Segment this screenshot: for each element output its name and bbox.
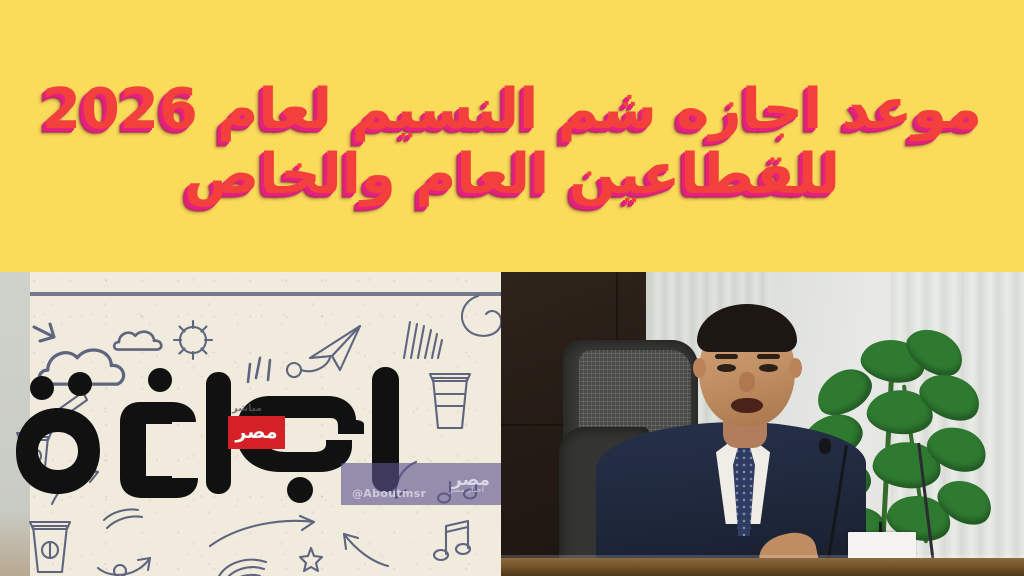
star-icon [300,548,322,571]
spiral-icon [462,296,501,336]
coffee-cup-bottom-icon [30,522,70,572]
ribbon-icon [55,392,87,420]
person-brow-right [757,354,780,359]
headline-line-1: موعد اجازه شم النسيم لعام 2026 [42,79,982,142]
news-thumbnail-poster: موعد اجازه شم النسيم لعام 2026 للقطاعين … [0,0,1024,576]
coffee-cup-icon [430,374,470,428]
cloud-small-icon [114,332,161,350]
arrow-curved-bottom-icon [98,558,150,576]
cloud-icon [39,350,123,384]
loop-icon [287,358,330,377]
person-ear-right [789,358,802,378]
watermark-logo-sublabel: اخبار مصر [449,486,484,494]
person-mouth [731,398,763,413]
sun-icon [174,321,212,359]
headline-line-2: للقطاعين العام والخاص [184,144,840,207]
nameplate-pin [879,522,882,532]
headline-band: موعد اجازه شم النسيم لعام 2026 للقطاعين … [0,0,1024,272]
arrow-curved-icon [52,468,98,504]
arc-lines-icon [218,560,266,576]
paper-plane-icon [310,326,360,370]
microphone-head [819,438,831,454]
right-photo-vacation-board: مباشر مصر @Aboutmsr مصر اخبار مصر [0,272,501,576]
left-photo-official [501,272,1024,576]
motion-lines-icon [104,509,142,528]
emphasis-lines-icon [248,358,270,382]
arrow-big-left-icon [344,534,388,566]
arrow-left-icon [34,324,54,341]
person-brow-left [715,354,738,359]
music-note-icon [434,521,470,560]
swoosh-icon [210,516,314,546]
person-ear-left [693,358,706,378]
image-strip: مباشر مصر @Aboutmsr مصر اخبار مصر [0,272,1024,576]
person-eye-right [759,364,778,372]
desk [501,558,1024,576]
live-badge: مصر [228,416,285,449]
coffee-cup-small-icon [17,433,51,477]
scribble-icon [404,322,442,358]
watermark-handle: @Aboutmsr [352,487,426,500]
live-badge-sublabel: مباشر [232,403,262,414]
person-nose [739,372,755,392]
live-badge-label: مصر [235,423,277,442]
person-eye-left [717,364,736,372]
